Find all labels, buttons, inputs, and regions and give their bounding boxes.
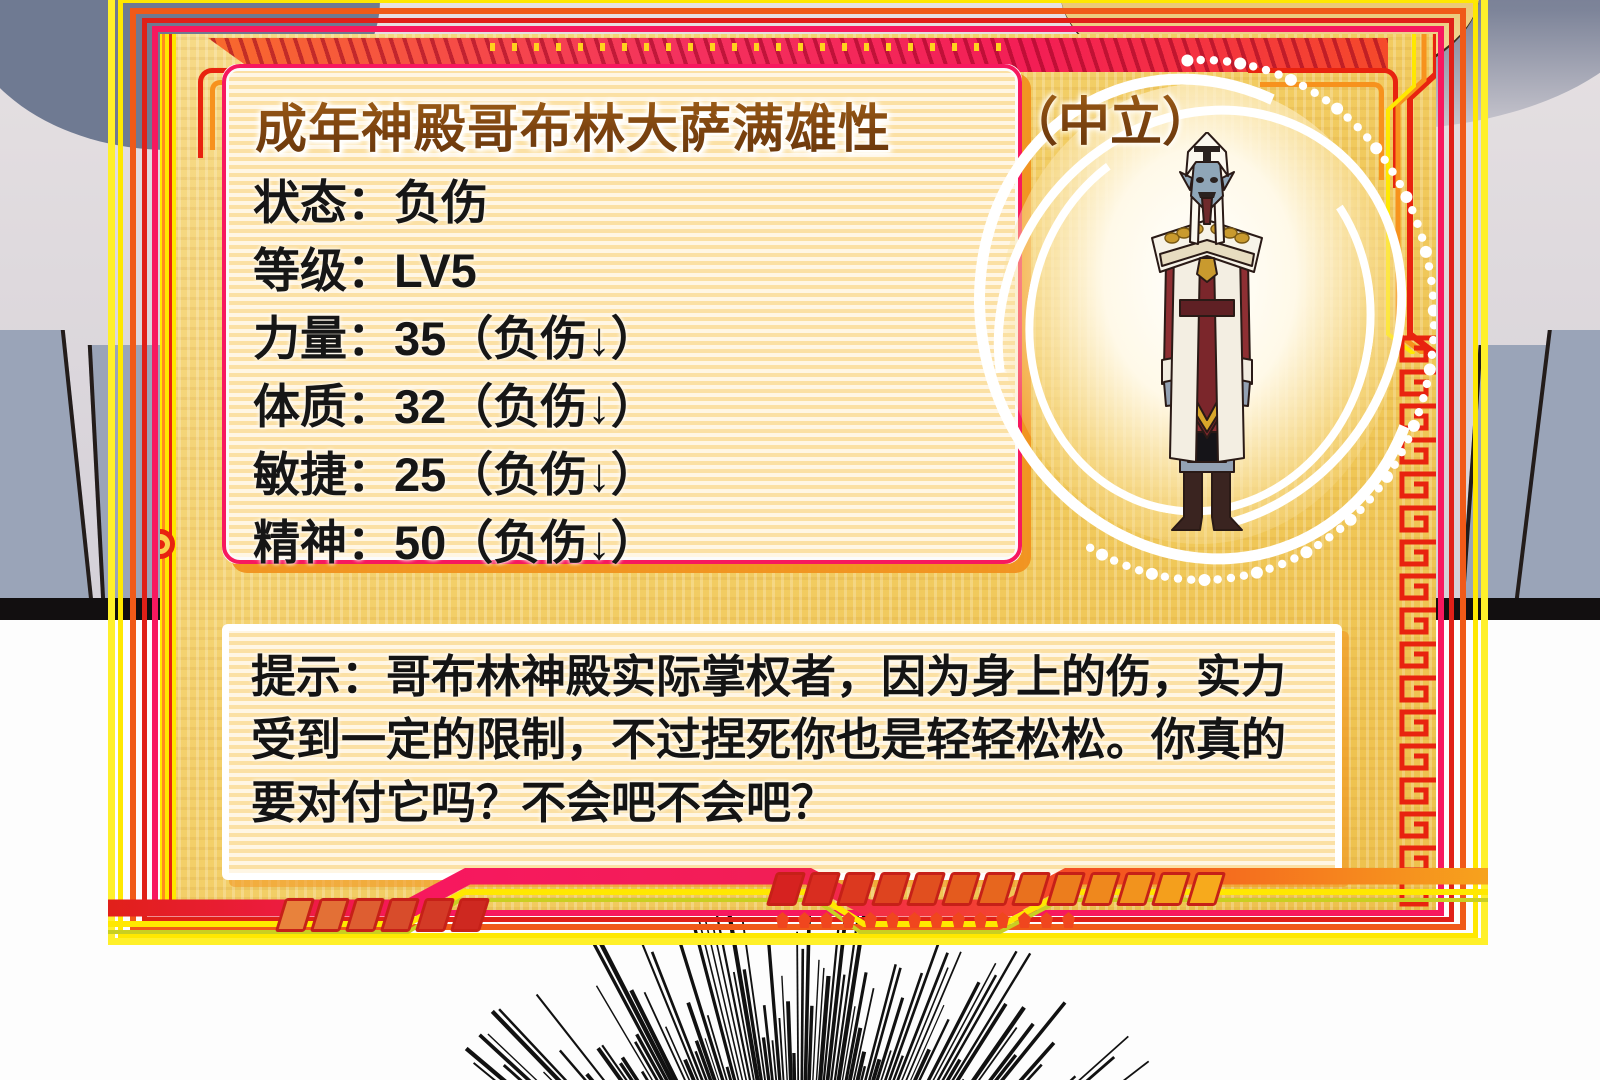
stat-value: 25 [394, 448, 446, 501]
stat-label: 敏捷： [253, 448, 394, 501]
frame-top-dots [490, 43, 1010, 51]
frame-left-stripes [160, 34, 176, 910]
stat-modifier: （负伤↓） [446, 380, 658, 433]
list-item: 体质：32（负伤↓） [253, 373, 1001, 441]
stat-label: 力量： [253, 312, 394, 365]
stat-label: 体质： [253, 380, 394, 433]
list-item: 力量：35（负伤↓） [253, 305, 1001, 373]
goblin-shaman-figure [1122, 132, 1292, 552]
tooth-marks-decoration [776, 912, 1075, 928]
card-background: 成年神殿哥布林大萨满雄性 状态：负伤 等级：LV5 力量：35（负伤↓） 体质：… [160, 34, 1436, 910]
stats-list: 状态：负伤 等级：LV5 力量：35（负伤↓） 体质：32（负伤↓） 敏捷：25… [253, 169, 1001, 577]
stat-value: 35 [394, 312, 446, 365]
list-item: 精神：50（负伤↓） [253, 509, 1001, 577]
stat-modifier: （负伤↓） [446, 312, 658, 365]
stat-label: 等级： [253, 244, 394, 297]
tip-text: 提示：哥布林神殿实际掌权者，因为身上的伤，实力受到一定的限制，不过捏死你也是轻轻… [251, 645, 1319, 834]
stat-value: 负伤 [394, 176, 488, 229]
stat-value: LV5 [394, 244, 477, 297]
list-item: 等级：LV5 [253, 237, 1001, 305]
segment-blocks-left [280, 898, 490, 937]
tip-panel: 提示：哥布林神殿实际掌权者，因为身上的伤，实力受到一定的限制，不过捏死你也是轻轻… [222, 624, 1342, 880]
stat-modifier: （负伤↓） [446, 516, 658, 569]
character-status-card: 成年神殿哥布林大萨满雄性 状态：负伤 等级：LV5 力量：35（负伤↓） 体质：… [108, 0, 1488, 955]
list-item: 状态：负伤 [253, 169, 1001, 237]
stat-value: 50 [394, 516, 446, 569]
page-title: 成年神殿哥布林大萨满雄性 [255, 87, 891, 162]
segment-blocks-right [771, 872, 1226, 911]
stats-panel: 成年神殿哥布林大萨满雄性 状态：负伤 等级：LV5 力量：35（负伤↓） 体质：… [222, 64, 1022, 564]
alignment-label: （中立） [1006, 80, 1214, 155]
list-item: 敏捷：25（负伤↓） [253, 441, 1001, 509]
stat-label: 状态： [253, 176, 394, 229]
stat-label: 精神： [253, 516, 394, 569]
stat-value: 32 [394, 380, 446, 433]
stat-modifier: （负伤↓） [446, 448, 658, 501]
